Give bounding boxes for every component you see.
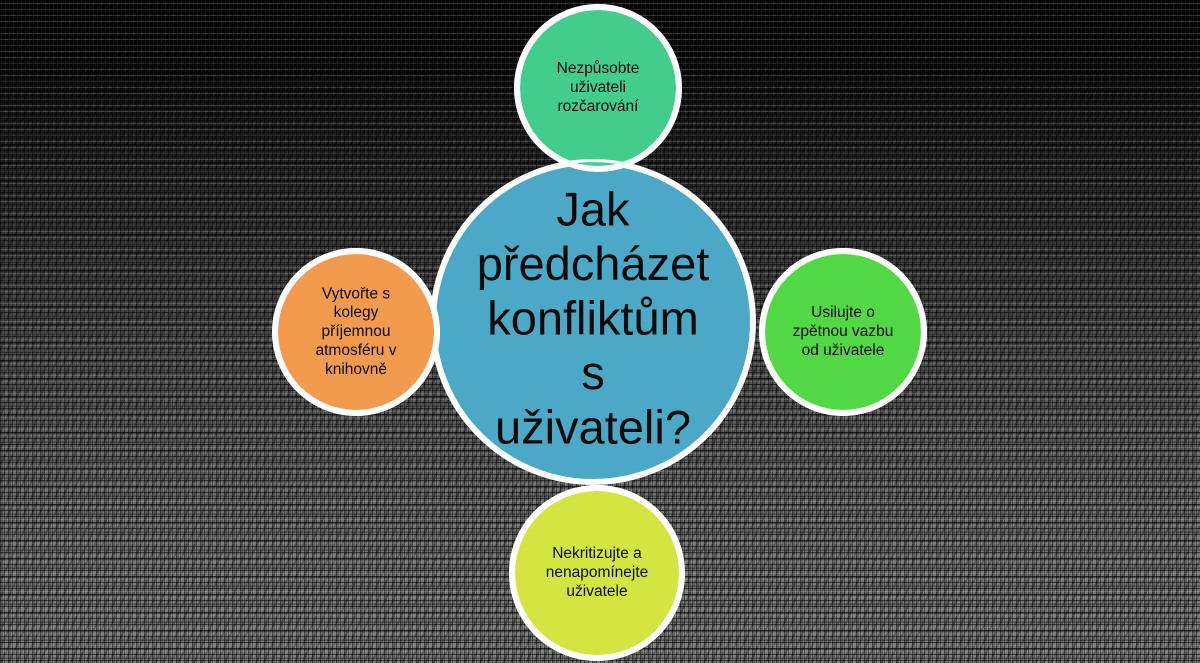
center-circle[interactable]: Jak předcházet konfliktům s uživateli? (430, 159, 756, 485)
diagram-canvas: Nezpůsobte uživateli rozčarování Usilujt… (0, 0, 1200, 663)
satellite-circle-top[interactable]: Nezpůsobte uživateli rozčarování (514, 4, 682, 172)
satellite-circle-right[interactable]: Usilujte o zpětnou vazbu od uživatele (759, 248, 927, 416)
satellite-circle-left[interactable]: Vytvořte s kolegy příjemnou atmosféru v … (272, 248, 440, 416)
satellite-circle-bottom[interactable]: Nekritizujte a nenapomínejte uživatele (509, 485, 685, 661)
